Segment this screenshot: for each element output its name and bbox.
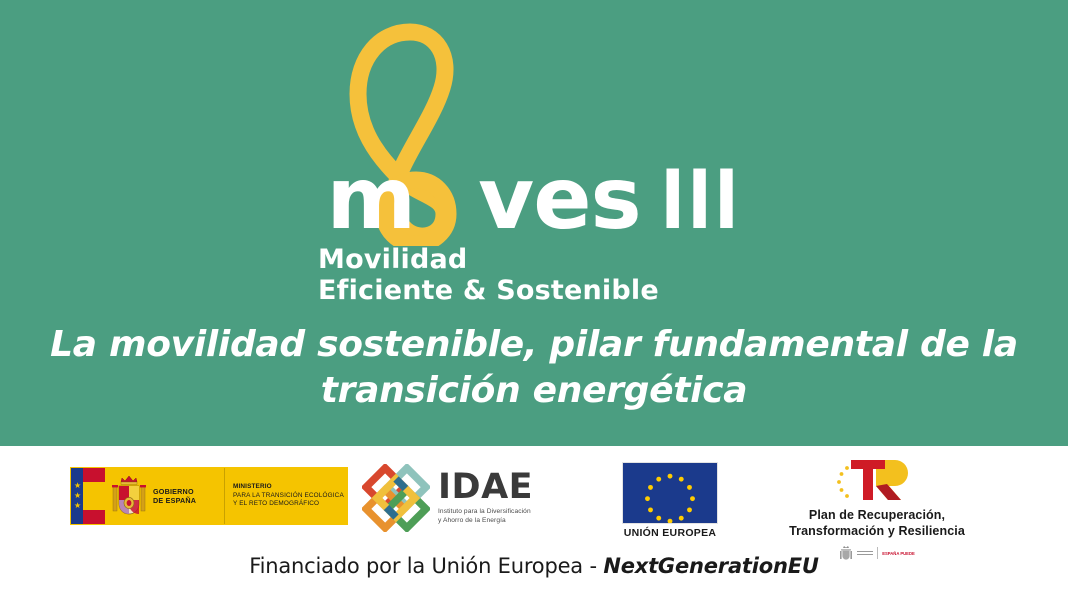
eu-flag-icon (622, 462, 718, 524)
ministerio-line3: Y EL RETO DEMOGRÁFICO (233, 500, 347, 509)
idae-interlocking-diamonds-icon (362, 464, 430, 532)
union-europea-logo: UNIÓN EUROPEA (615, 462, 725, 540)
gobierno-line2: DE ESPAÑA (153, 496, 220, 505)
ministerio-line2: PARA LA TRANSICIÓN ECOLÓGICA (233, 492, 347, 501)
brand-subtitle-line2: Eficiente & Sostenible (318, 275, 1068, 306)
plan-recuperacion-line2: Transformación y Resiliencia (762, 524, 992, 540)
ministerio-line1: MINISTERIO (233, 483, 347, 492)
brand-subtitle-line1: Movilidad (318, 244, 1068, 275)
idae-text-block: IDAE Instituto para la Diversificación y… (438, 470, 533, 525)
funding-program: NextGenerationEU (603, 554, 818, 578)
idae-subtitle: Instituto para la Diversificación y Ahor… (438, 508, 533, 525)
brand-subtitle: Movilidad Eficiente & Sostenible (0, 244, 1068, 306)
tr-monogram-icon (762, 456, 992, 504)
moves-brand-lockup: movesIII Movilidad Eficiente & Sostenibl… (0, 18, 1068, 308)
wordmark-roman-numeral: III (661, 156, 742, 242)
idae-subtitle-line2: y Ahorro de la Energía (438, 517, 533, 526)
spain-coat-of-arms-icon (105, 468, 153, 524)
footer-panel: ★ ★ ★ (0, 446, 1068, 597)
wordmark-o-slot: o (416, 156, 478, 242)
hero-panel: movesIII Movilidad Eficiente & Sostenibl… (0, 0, 1068, 446)
plan-recuperacion-logo: Plan de Recuperación, Transformación y R… (762, 456, 992, 561)
funding-prefix: Financiado por la Unión Europea - (249, 554, 603, 578)
moves-wordmark: movesIII (0, 156, 1068, 242)
gobierno-de-espana-logo: ★ ★ ★ (70, 467, 348, 525)
hero-tagline: La movilidad sostenible, pilar fundament… (0, 322, 1068, 414)
idae-logo: IDAE Instituto para la Diversificación y… (362, 462, 552, 534)
spain-flag-icon: ★ ★ ★ (71, 468, 105, 524)
wordmark-m: m (327, 149, 417, 249)
slide-root: movesIII Movilidad Eficiente & Sostenibl… (0, 0, 1068, 597)
funding-line: Financiado por la Unión Europea - NextGe… (0, 553, 1068, 579)
ministerio-label: MINISTERIO PARA LA TRANSICIÓN ECOLÓGICA … (225, 468, 347, 524)
gobierno-line1: GOBIERNO (153, 487, 220, 496)
plan-recuperacion-text: Plan de Recuperación, Transformación y R… (762, 508, 992, 539)
idae-wordmark: IDAE (438, 470, 533, 505)
footer-logo-row: ★ ★ ★ (0, 454, 1068, 544)
union-europea-caption: UNIÓN EUROPEA (615, 527, 725, 539)
plan-recuperacion-line1: Plan de Recuperación, (762, 508, 992, 524)
idae-subtitle-line1: Instituto para la Diversificación (438, 508, 533, 517)
wordmark-ves: ves (478, 149, 641, 249)
gobierno-label: GOBIERNO DE ESPAÑA (153, 468, 225, 524)
